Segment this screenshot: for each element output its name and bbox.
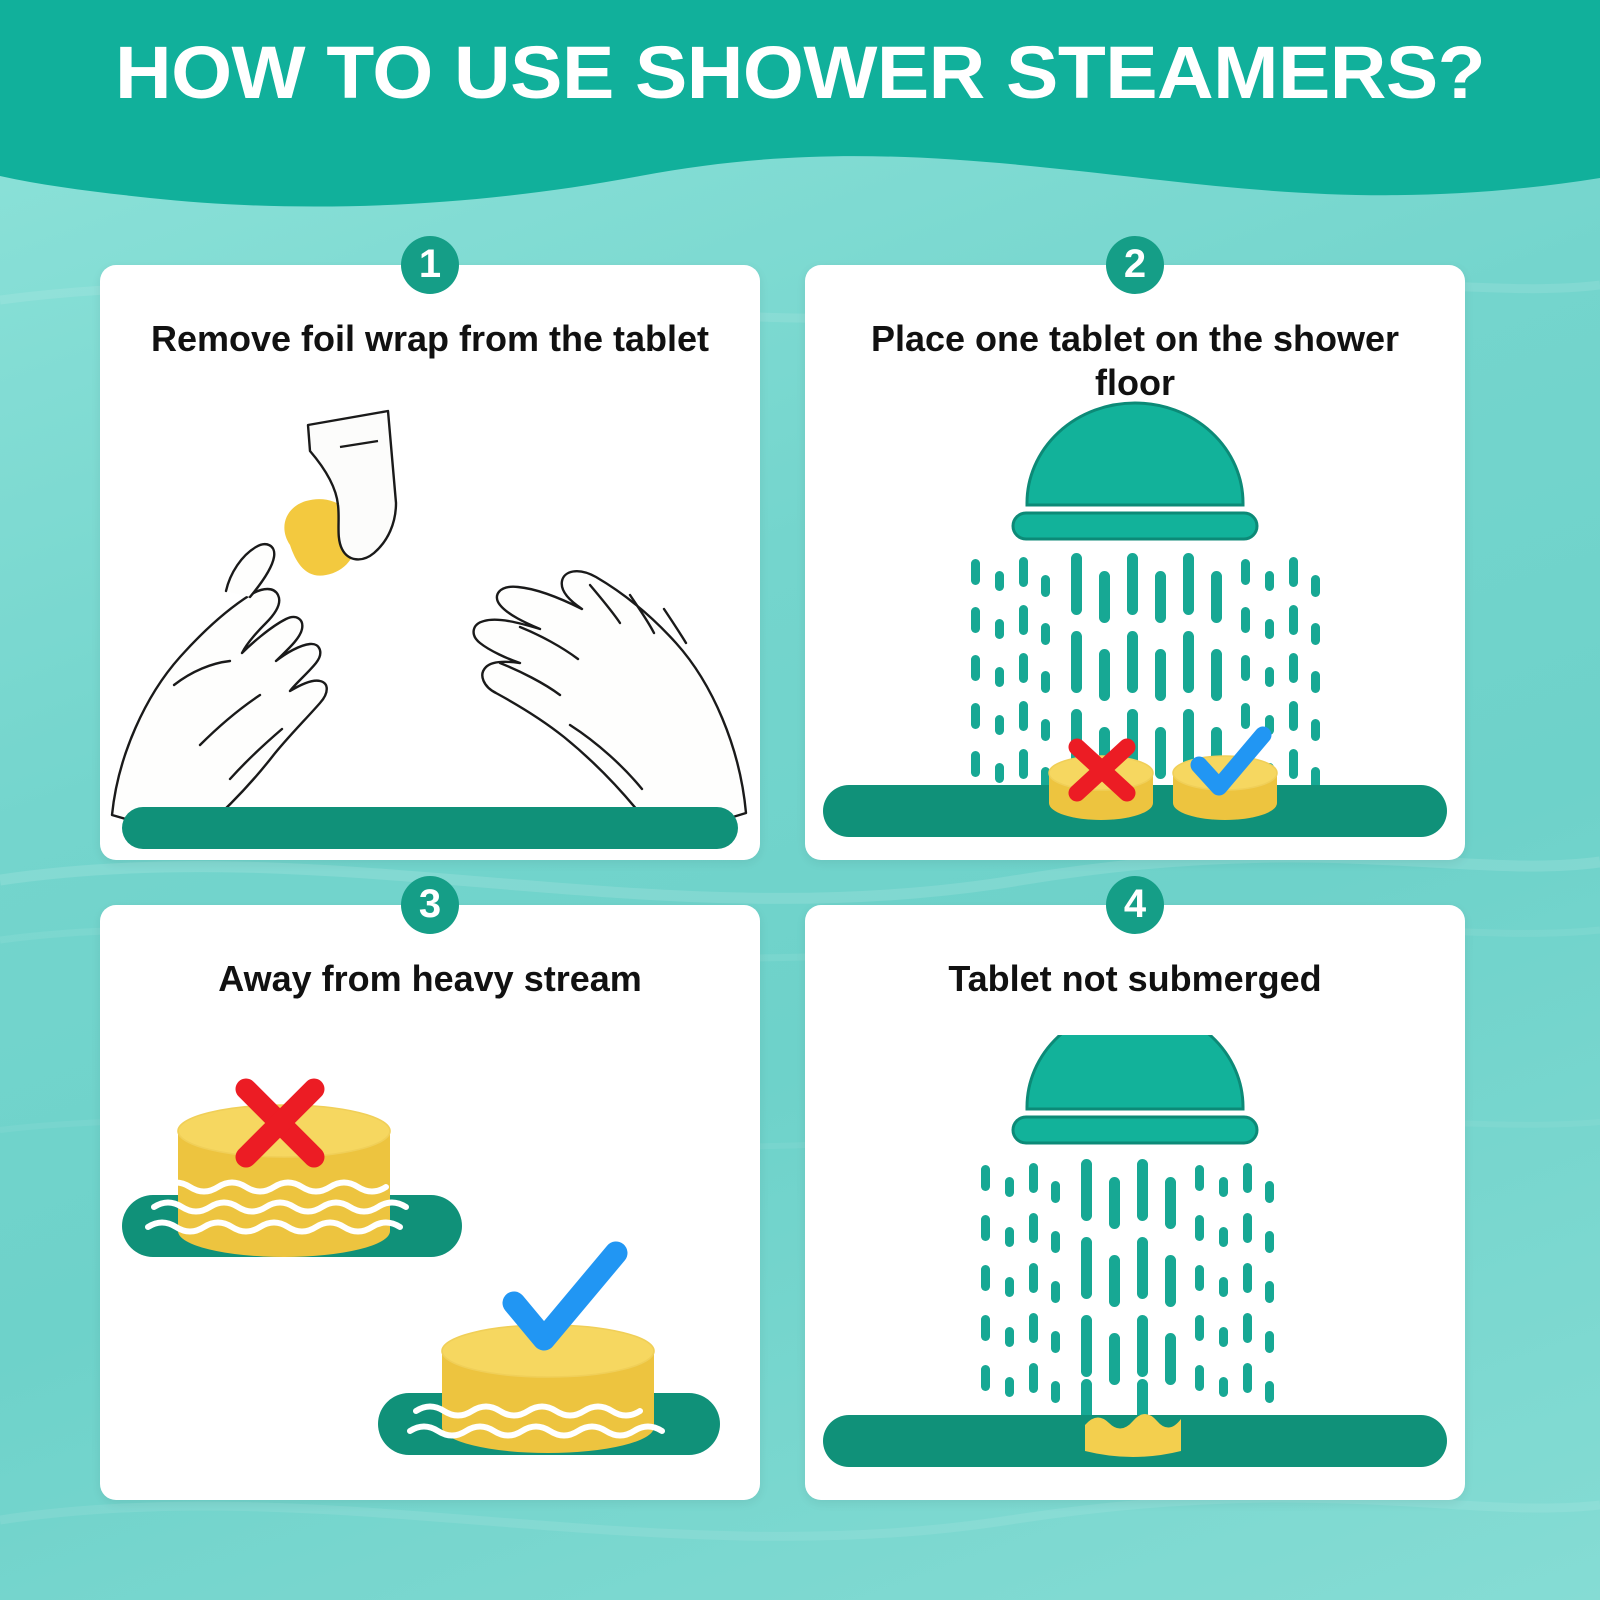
shallow-tablet-group [378, 1253, 720, 1455]
left-hand-icon [112, 544, 327, 829]
step-number-badge-4: 4 [1106, 876, 1164, 934]
right-hand-icon [474, 571, 746, 827]
steps-row-top: 1 Remove foil wrap from the tablet [100, 265, 1500, 860]
step-card-1[interactable]: 1 Remove foil wrap from the tablet [100, 265, 760, 860]
step-title-2: Place one tablet on the shower floor [835, 317, 1435, 405]
shower-floor-bar-1 [122, 807, 738, 849]
page-title: HOW TO USE SHOWER STEAMERS? [0, 30, 1600, 115]
steps-row-bottom: 3 Away from heavy stream [100, 905, 1500, 1500]
shower-head-icon [1013, 403, 1257, 539]
step-title-4: Tablet not submerged [835, 957, 1435, 1001]
blue-check-icon [514, 1253, 616, 1339]
step-card-2[interactable]: 2 Place one tablet on the shower floor [805, 265, 1465, 860]
illustration-shower-over-two-tablets [805, 395, 1465, 855]
step-number-badge-2: 2 [1106, 236, 1164, 294]
step-card-4[interactable]: 4 Tablet not submerged [805, 905, 1465, 1500]
step-title-1: Remove foil wrap from the tablet [130, 317, 730, 361]
illustration-shower-over-dissolving-tablet [805, 1035, 1465, 1495]
rain-droplets [981, 1159, 1274, 1425]
step-card-3[interactable]: 3 Away from heavy stream [100, 905, 760, 1500]
step-number-badge-1: 1 [401, 236, 459, 294]
step-number-badge-3: 3 [401, 876, 459, 934]
page-header: HOW TO USE SHOWER STEAMERS? [0, 0, 1600, 215]
shower-head-bar [1013, 1117, 1257, 1143]
step-title-3: Away from heavy stream [130, 957, 730, 1001]
steps-grid: 1 Remove foil wrap from the tablet [100, 265, 1500, 1500]
illustration-submerged-vs-shallow [100, 1035, 760, 1495]
shower-head-icon [1013, 1035, 1257, 1143]
shower-head-bar [1013, 513, 1257, 539]
illustration-hands-unwrapping-tablet [100, 395, 760, 855]
rain-droplets [971, 553, 1320, 789]
submerged-tablet-group [122, 1089, 462, 1257]
